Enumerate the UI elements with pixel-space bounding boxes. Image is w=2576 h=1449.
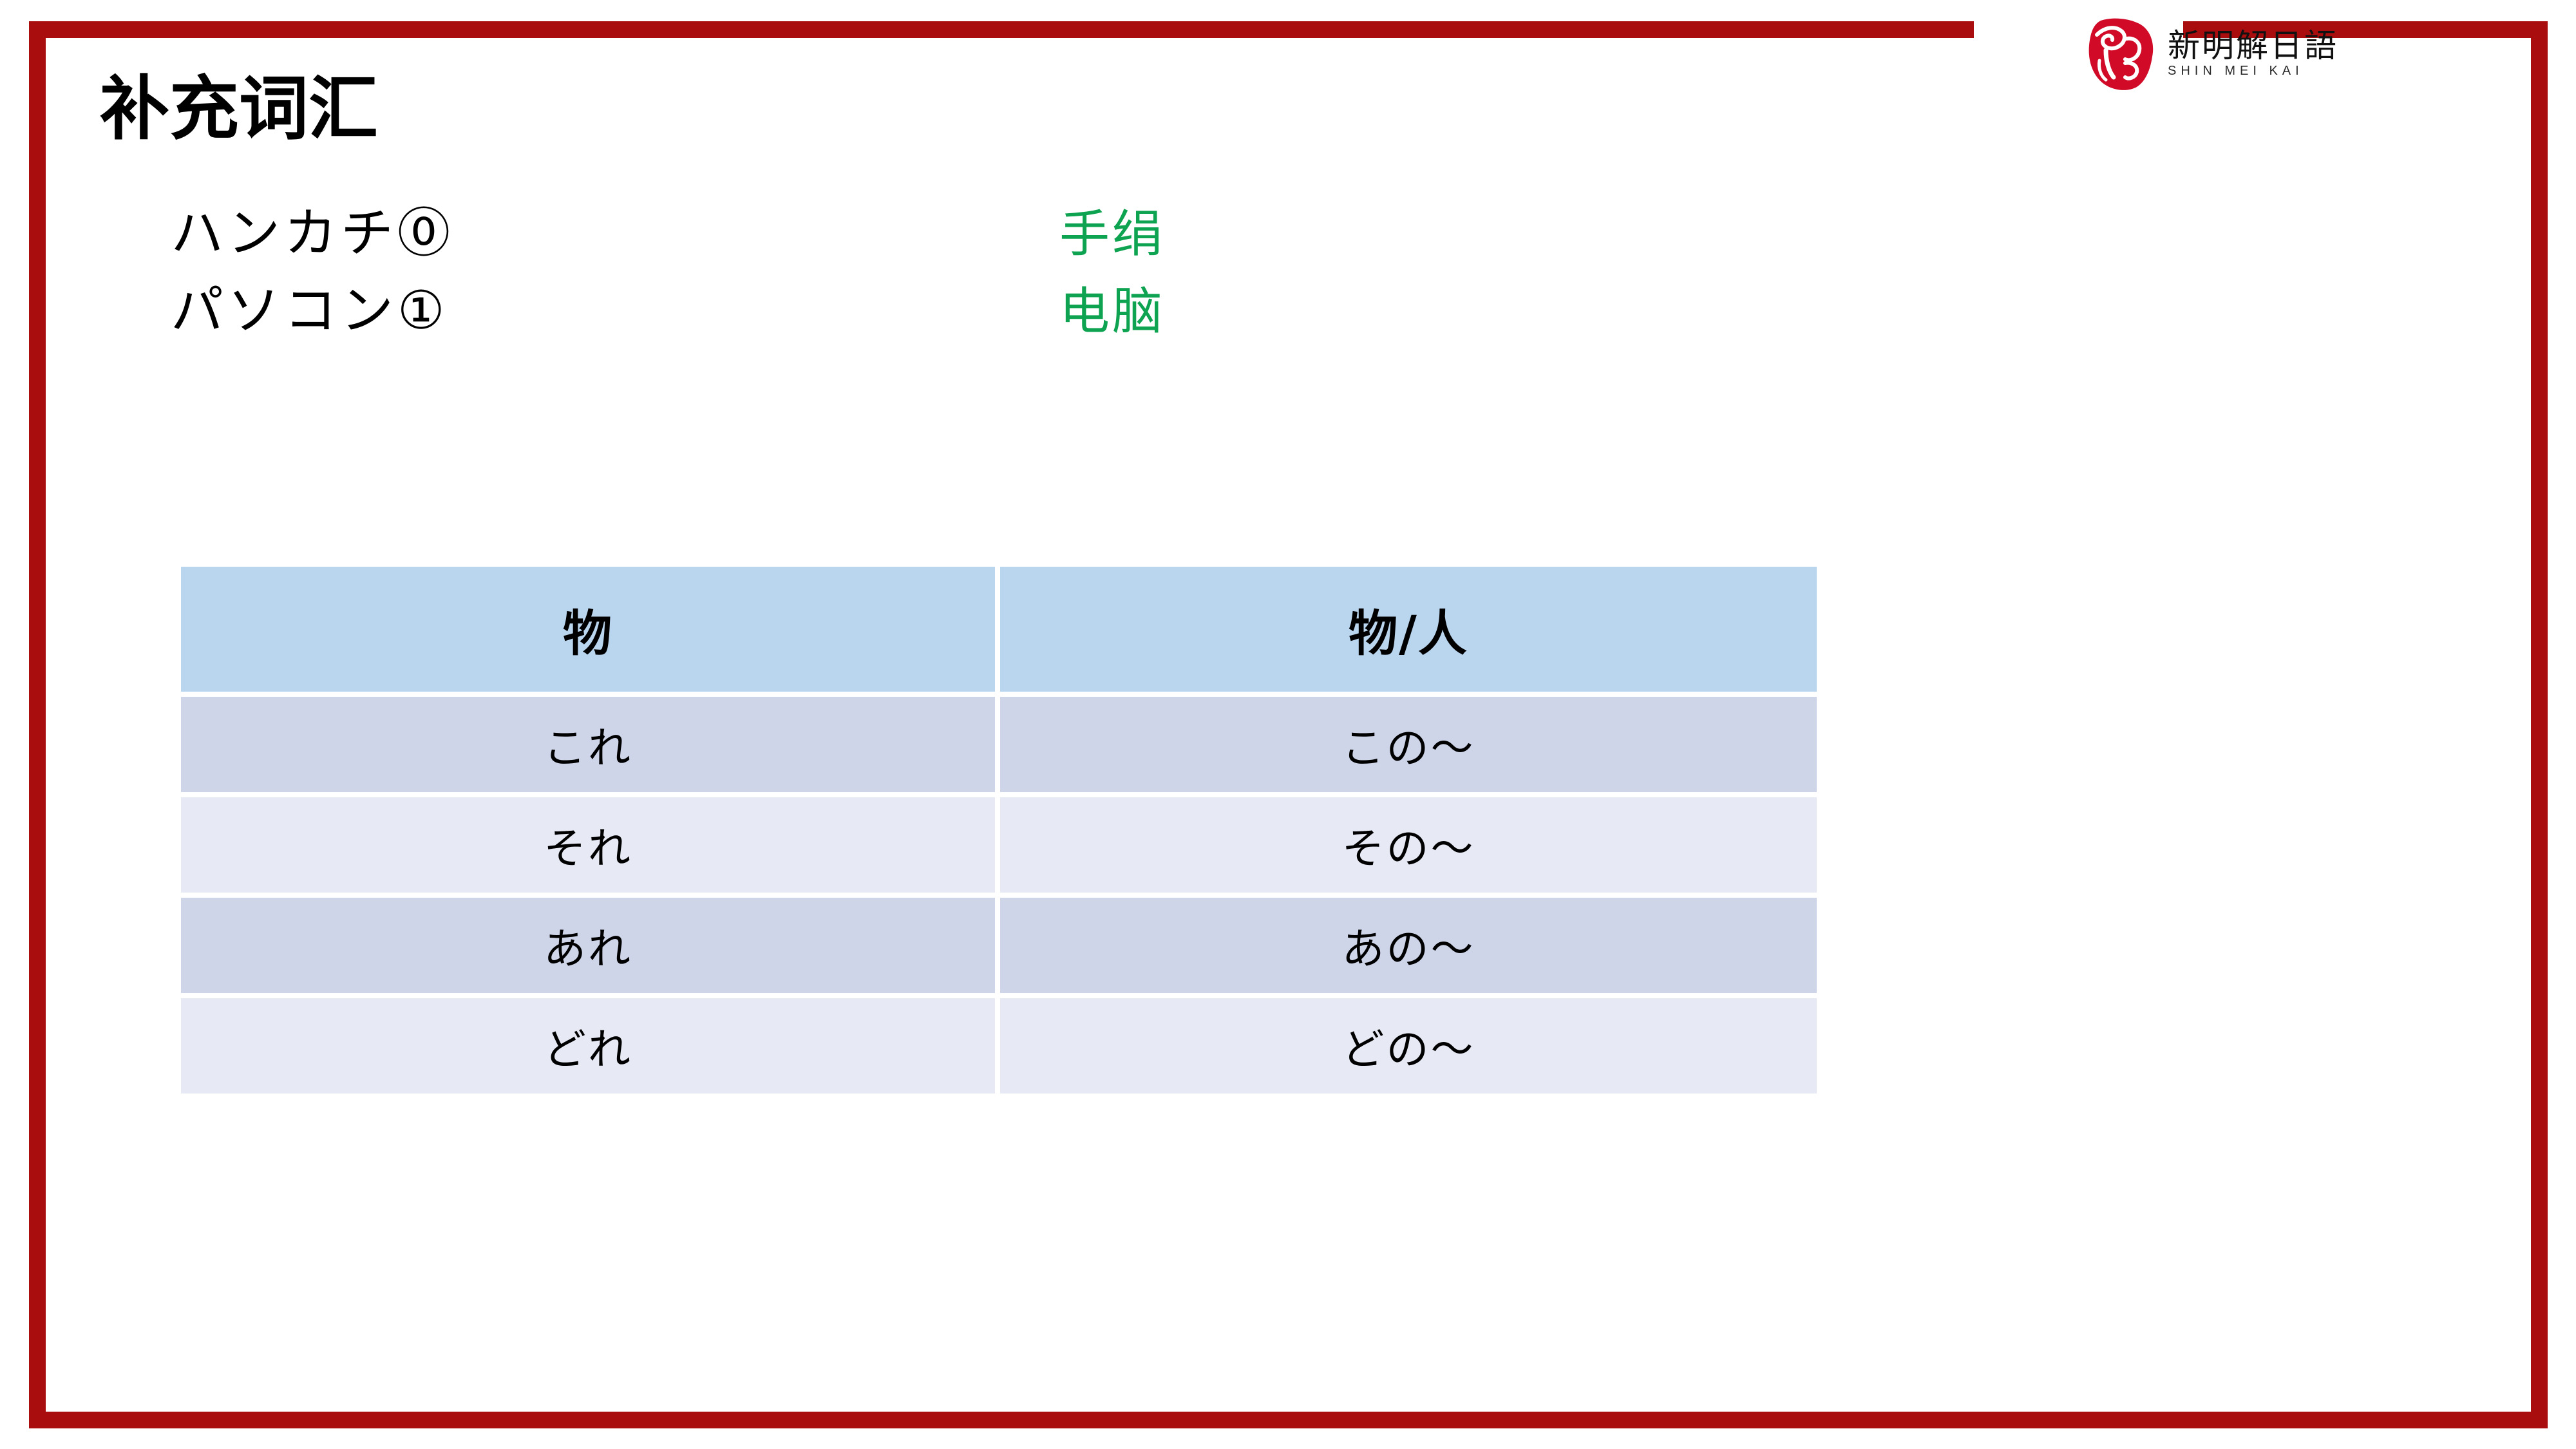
frame-bottom-bar <box>29 1412 2548 1428</box>
table-header-cell-person: 物/人 <box>1000 567 1817 692</box>
seal-stamp-icon <box>2087 15 2156 91</box>
demonstratives-table: 物 物/人 これ この〜 それ その〜 あれ あの〜 どれ どの〜 <box>176 562 1822 1099</box>
table-header-row: 物 物/人 <box>181 567 1817 692</box>
brand-logo: 新明解日語 SHIN MEI KAI <box>2087 12 2396 95</box>
table-header-cell-thing: 物 <box>181 567 995 692</box>
vocabulary-list: ハンカチ⓪ 手绢 パソコン① 电脑 <box>171 205 1716 359</box>
vocabulary-meaning: 手绢 <box>1059 207 1165 263</box>
logo-romaji-text: SHIN MEI KAI <box>2168 64 2338 77</box>
table-cell-person: どの〜 <box>1000 998 1817 1094</box>
logo-kanji-text: 新明解日語 <box>2168 30 2338 62</box>
vocabulary-word: ハンカチ⓪ <box>171 205 1059 263</box>
table-row: これ この〜 <box>181 697 1817 792</box>
vocabulary-item: ハンカチ⓪ 手绢 <box>171 205 1716 269</box>
table-row: それ その〜 <box>181 797 1817 893</box>
table-row: あれ あの〜 <box>181 898 1817 993</box>
vocabulary-word: パソコン① <box>171 282 1059 340</box>
frame-left-bar <box>29 21 46 1428</box>
table-row: どれ どの〜 <box>181 998 1817 1094</box>
logo-wordmark: 新明解日語 SHIN MEI KAI <box>2168 30 2338 77</box>
frame-top-left-bar <box>29 21 1974 38</box>
table-cell-thing: あれ <box>181 898 995 993</box>
table-cell-thing: これ <box>181 697 995 792</box>
table-cell-person: あの〜 <box>1000 898 1817 993</box>
table-cell-person: その〜 <box>1000 797 1817 893</box>
page-title: 补充词汇 <box>100 70 378 149</box>
table-cell-thing: それ <box>181 797 995 893</box>
vocabulary-item: パソコン① 电脑 <box>171 282 1716 346</box>
frame-right-bar <box>2531 21 2548 1428</box>
vocabulary-meaning: 电脑 <box>1059 285 1165 340</box>
table-cell-person: この〜 <box>1000 697 1817 792</box>
table-cell-thing: どれ <box>181 998 995 1094</box>
